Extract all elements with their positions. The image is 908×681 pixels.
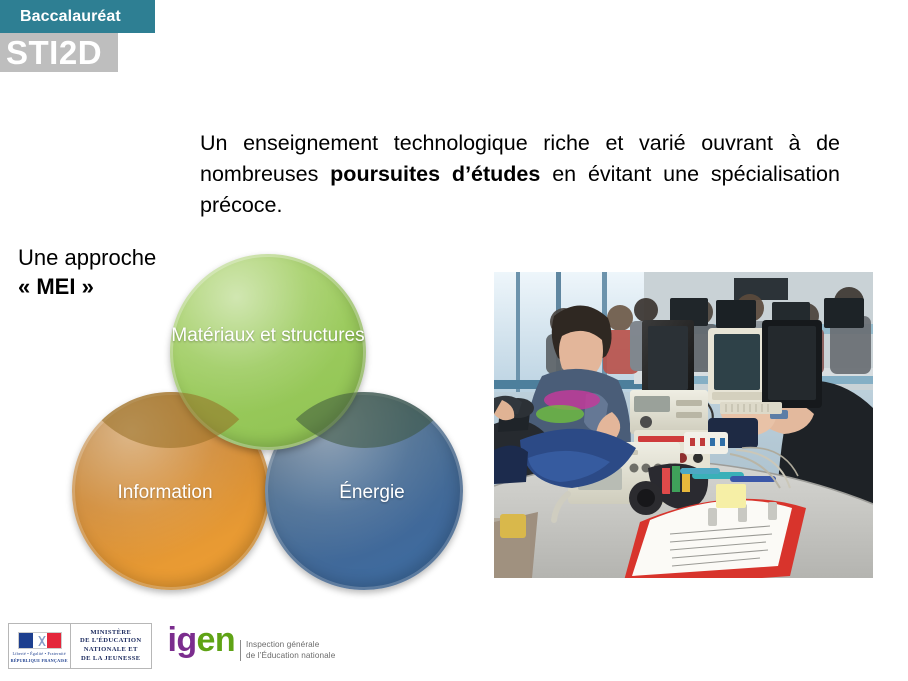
igen-subtitle: Inspection générale de l’Éducation natio… [240, 640, 335, 661]
flag-motto-line1: Liberté • Égalité • Fraternité [11, 651, 68, 657]
french-republic-flag-logo: Liberté • Égalité • Fraternité RÉPUBLIQU… [9, 624, 71, 668]
igen-wordmark-ig: ig [168, 621, 197, 659]
flag-band-red [47, 633, 61, 648]
classroom-photo [494, 272, 873, 578]
venn-diagram: Information Énergie Matériaux et structu… [60, 248, 470, 588]
flag-motto: Liberté • Égalité • Fraternité RÉPUBLIQU… [11, 651, 68, 663]
intro-paragraph: Un enseignement technologique riche et v… [200, 128, 840, 221]
ministry-line-2: DE L’ÉDUCATION [80, 637, 142, 646]
baccalaureat-label: Baccalauréat [20, 9, 121, 25]
ministry-line-4: DE LA JEUNESSE [80, 655, 142, 664]
french-flag-icon [18, 632, 62, 649]
venn-circle-materiaux-structures: Matériaux et structures [170, 254, 366, 450]
sti2d-banner: STI2D [0, 33, 118, 72]
venn-label-energie: Énergie [339, 481, 405, 505]
ministry-name: MINISTÈRE DE L’ÉDUCATION NATIONALE ET DE… [71, 629, 151, 663]
sti2d-label: STI2D [6, 36, 102, 69]
venn-label-materiaux-structures: Matériaux et structures [171, 324, 364, 348]
intro-text-bold: poursuites d’études [330, 162, 540, 186]
flag-band-blue [19, 633, 33, 648]
classroom-photo-illustration [494, 272, 873, 578]
footer-logos: Liberté • Égalité • Fraternité RÉPUBLIQU… [8, 620, 335, 672]
igen-logo: igen Inspection générale de l’Éducation … [168, 622, 336, 670]
baccalaureat-banner: Baccalauréat [0, 0, 155, 33]
igen-subtitle-line1: Inspection générale [246, 640, 335, 651]
flag-motto-line2: RÉPUBLIQUE FRANÇAISE [11, 657, 68, 663]
ministry-logo: Liberté • Égalité • Fraternité RÉPUBLIQU… [8, 623, 152, 669]
ministry-line-3: NATIONALE ET [80, 646, 142, 655]
igen-wordmark: igen [168, 623, 236, 657]
igen-subtitle-line2: de l’Éducation nationale [246, 651, 335, 662]
flag-band-white [33, 633, 47, 648]
igen-wordmark-en: en [197, 621, 235, 659]
venn-label-information: Information [117, 481, 212, 505]
